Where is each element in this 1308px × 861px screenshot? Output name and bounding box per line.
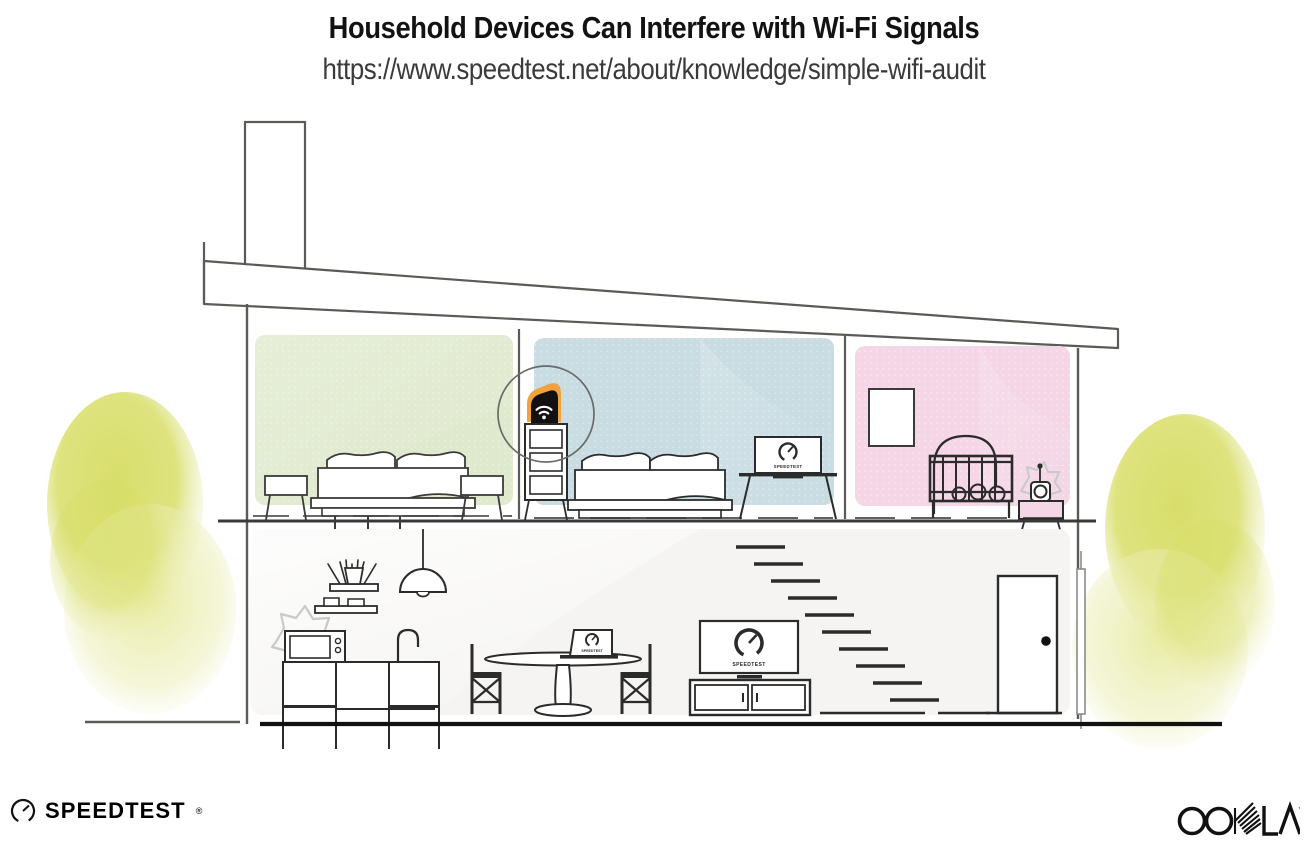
room-blue-bedroom: SPEEDTEST [498,338,837,520]
media-console [690,680,810,715]
source-url: https://www.speedtest.net/about/knowledg… [92,46,1217,87]
ookla-trademark: ™ [1298,806,1300,813]
speedtest-gauge-icon [10,798,36,824]
bed-blue [568,453,732,518]
speedtest-logo: SPEEDTEST ® [10,798,202,824]
tv-screen-label: SPEEDTEST [732,662,765,668]
monitor: SPEEDTEST [755,437,821,478]
wifi-router [527,383,561,423]
chimney [245,122,305,274]
front-door[interactable] [986,576,1062,713]
infographic-page: Household Devices Can Interfere with Wi-… [0,0,1308,861]
wall-frame-nursery [869,389,914,446]
room-lower-floor: SPEEDTEST [250,529,1085,749]
microwave [285,631,345,663]
laptop-screen-label: SPEEDTEST [581,649,603,653]
bed-green [311,452,475,516]
house-illustration: SPEEDTEST [0,104,1308,749]
page-title: Household Devices Can Interfere with Wi-… [78,0,1229,46]
kitchen-counter [283,662,439,749]
monitor-screen-label: SPEEDTEST [774,464,803,469]
room-green-bedroom [253,335,513,537]
shelf-upper [330,584,378,591]
foliage-left [47,392,236,714]
speedtest-trademark: ® [196,806,203,816]
speedtest-wordmark: SPEEDTEST [45,798,186,824]
header: Household Devices Can Interfere with Wi-… [0,0,1308,87]
ookla-logo: ™ [1174,800,1300,845]
foliage-right [1072,414,1275,749]
footer: SPEEDTEST ® ™ [0,780,1308,861]
door-knob-icon[interactable] [1041,636,1051,646]
television: SPEEDTEST [700,621,798,678]
roof [204,242,1118,348]
wall-trim-right [1077,551,1085,729]
room-pink-nursery [855,346,1070,540]
ookla-wordmark-icon: ™ [1174,800,1300,840]
dresser [525,424,567,520]
